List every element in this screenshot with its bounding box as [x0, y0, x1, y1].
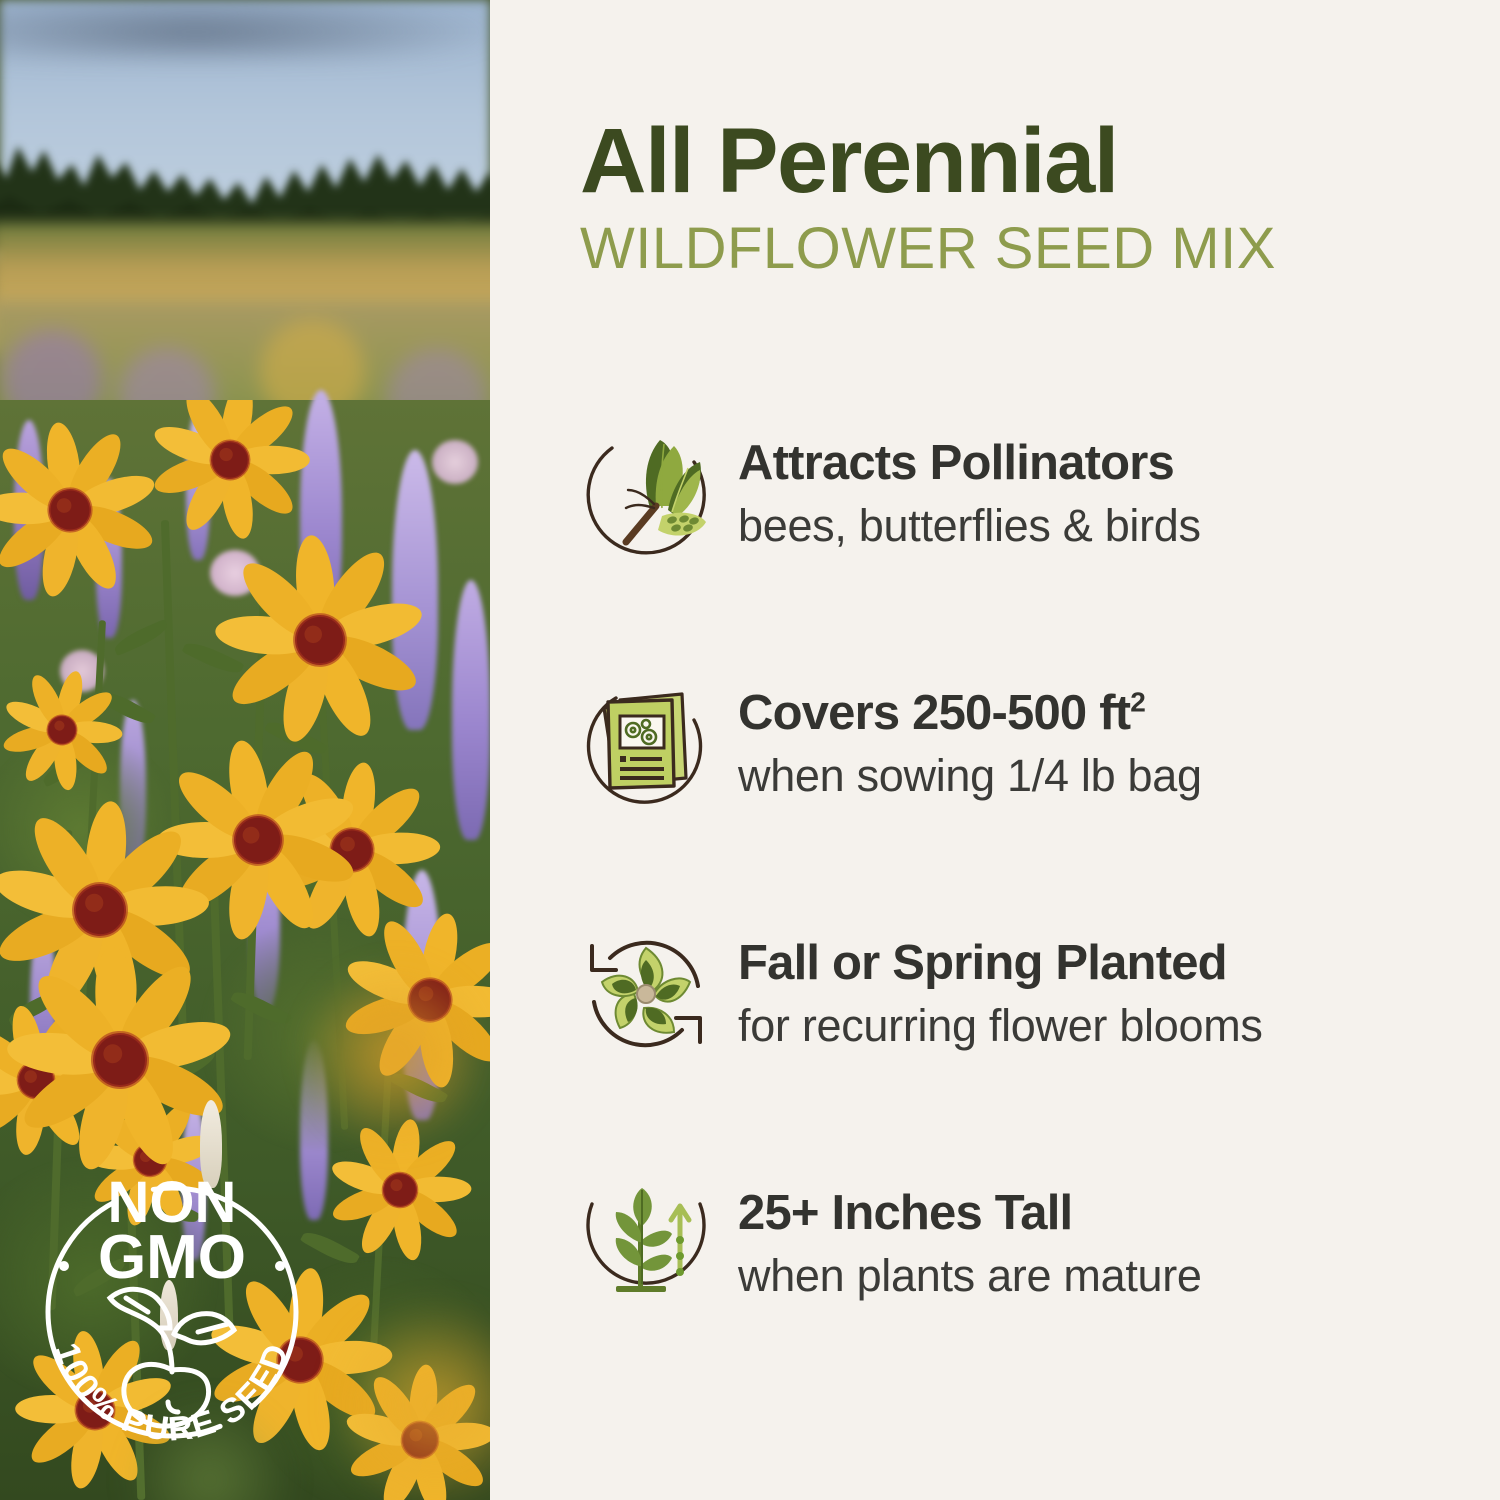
- feature-text: Fall or Spring Planted for recurring flo…: [716, 937, 1263, 1051]
- flower-cycle-icon: [576, 924, 716, 1064]
- badge-dot-left: [59, 1261, 69, 1271]
- content-panel: All Perennial WILDFLOWER SEED MIX: [490, 0, 1500, 1500]
- feature-headline: Covers 250-500 ft2: [738, 687, 1202, 741]
- badge-dot-right: [275, 1261, 285, 1271]
- cloud-band: [0, 0, 490, 60]
- product-header: All Perennial WILDFLOWER SEED MIX: [580, 116, 1430, 278]
- badge-line-2: GMO: [98, 1223, 246, 1292]
- feature-text: 25+ Inches Tall when plants are mature: [716, 1187, 1202, 1301]
- feature-headline: 25+ Inches Tall: [738, 1187, 1202, 1241]
- page-title: All Perennial: [580, 116, 1430, 206]
- feature-row-height: 25+ Inches Tall when plants are mature: [576, 1174, 1436, 1314]
- feature-subline: when sowing 1/4 lb bag: [738, 751, 1202, 801]
- feature-subline: when plants are mature: [738, 1251, 1202, 1301]
- feature-text: Covers 250-500 ft2 when sowing 1/4 lb ba…: [716, 687, 1202, 801]
- feature-row-planting-season: Fall or Spring Planted for recurring flo…: [576, 924, 1436, 1064]
- non-gmo-badge: NON GMO 100% PURE SEED: [22, 1162, 322, 1462]
- feature-list: Attracts Pollinators bees, butterflies &…: [576, 424, 1436, 1314]
- feature-headline-superscript: 2: [1130, 687, 1145, 718]
- feature-subline: bees, butterflies & birds: [738, 501, 1201, 551]
- feature-headline-main: Covers 250-500 ft: [738, 686, 1130, 740]
- feature-row-pollinators: Attracts Pollinators bees, butterflies &…: [576, 424, 1436, 564]
- feature-headline: Attracts Pollinators: [738, 437, 1201, 491]
- page-subtitle: WILDFLOWER SEED MIX: [580, 220, 1430, 278]
- feature-headline: Fall or Spring Planted: [738, 937, 1263, 991]
- product-infographic: NON GMO 100% PURE SEED: [0, 0, 1500, 1500]
- feature-subline: for recurring flower blooms: [738, 1001, 1263, 1051]
- product-photo: NON GMO 100% PURE SEED: [0, 0, 490, 1500]
- feature-text: Attracts Pollinators bees, butterflies &…: [716, 437, 1201, 551]
- seed-packet-icon: [576, 674, 716, 814]
- feature-row-coverage: Covers 250-500 ft2 when sowing 1/4 lb ba…: [576, 674, 1436, 814]
- plant-height-icon: [576, 1174, 716, 1314]
- butterfly-icon: [576, 424, 716, 564]
